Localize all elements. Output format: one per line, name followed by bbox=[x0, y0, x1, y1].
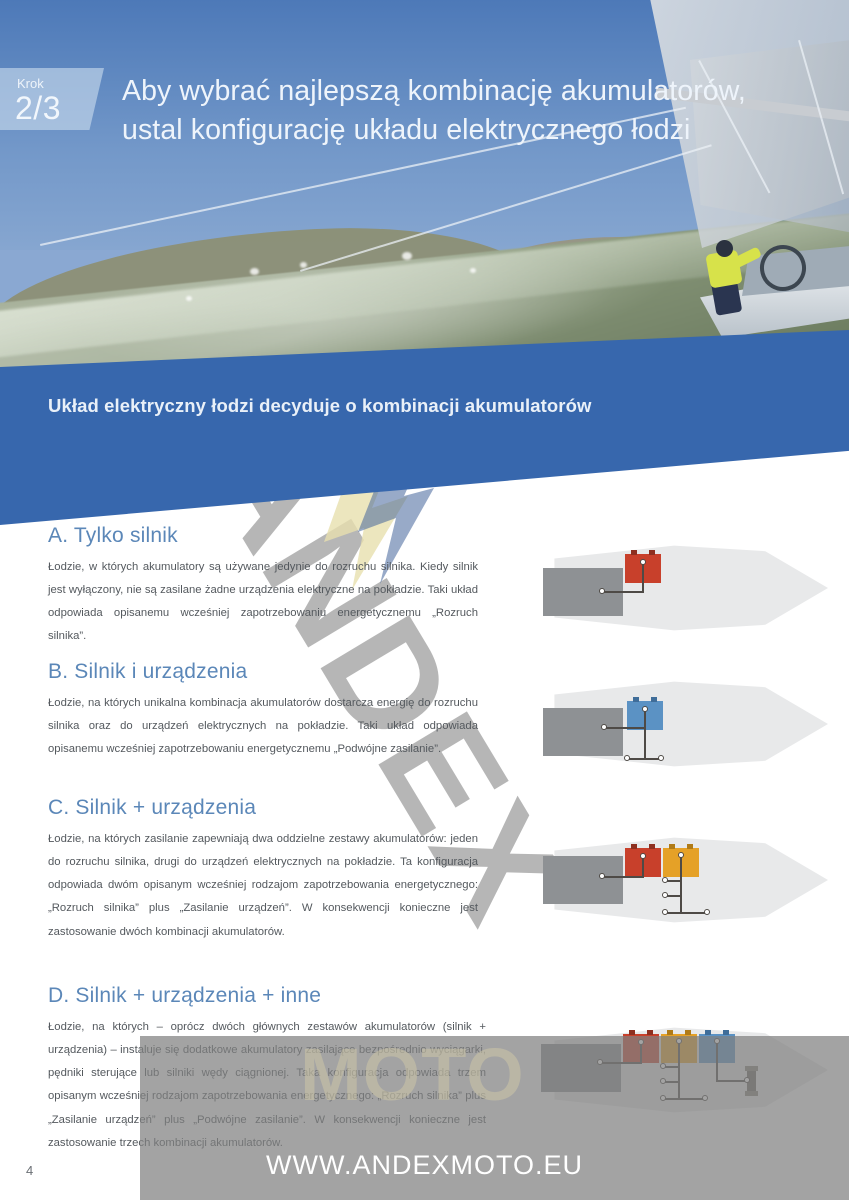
section-c-body: Łodzie, na których zasilanie zapewniają … bbox=[48, 828, 478, 944]
device-node bbox=[624, 755, 630, 761]
wire-to-engine bbox=[603, 727, 646, 729]
wire-battery-down bbox=[642, 856, 644, 878]
engine-block-icon bbox=[543, 708, 623, 756]
wire-battery-down bbox=[644, 708, 646, 760]
hero-photo bbox=[0, 0, 849, 380]
diagram-a bbox=[525, 536, 830, 646]
spray-droplet bbox=[250, 268, 259, 275]
section-b: B. Silnik i urządzenia Łodzie, na któryc… bbox=[48, 660, 478, 761]
banner-text: Układ elektryczny łodzi decyduje o kombi… bbox=[48, 392, 591, 419]
section-b-body: Łodzie, na których unikalna kombinacja a… bbox=[48, 692, 478, 761]
step-badge-label: Krok bbox=[17, 76, 44, 91]
section-a-heading: A. Tylko silnik bbox=[48, 524, 478, 548]
section-a-body: Łodzie, w których akumulatory są używane… bbox=[48, 556, 478, 649]
section-c: C. Silnik + urządzenia Łodzie, na któryc… bbox=[48, 796, 478, 944]
device-node bbox=[704, 909, 710, 915]
wire-device-bus bbox=[665, 912, 707, 914]
device-node bbox=[658, 755, 664, 761]
wire-battery-down bbox=[642, 562, 644, 592]
spray-droplet bbox=[470, 268, 476, 273]
page-title: Aby wybrać najlepszą kombinację akumulat… bbox=[122, 72, 762, 150]
spray-droplet bbox=[186, 296, 192, 301]
engine-block-icon bbox=[543, 856, 623, 904]
device-node bbox=[662, 877, 668, 883]
device-node bbox=[662, 892, 668, 898]
sailor-head bbox=[716, 240, 733, 257]
wire-devices-trunk bbox=[680, 854, 682, 914]
diagram-c bbox=[525, 828, 830, 938]
footer-url[interactable]: WWW.ANDEXMOTO.EU bbox=[0, 1150, 849, 1181]
terminal-node bbox=[599, 588, 605, 594]
diagram-b bbox=[525, 672, 830, 782]
battery-terminal-node bbox=[678, 852, 684, 858]
page-number: 4 bbox=[26, 1163, 33, 1178]
terminal-node bbox=[599, 873, 605, 879]
wire-to-engine bbox=[601, 591, 644, 593]
battery-terminal-node bbox=[640, 853, 646, 859]
section-d-heading: D. Silnik + urządzenia + inne bbox=[48, 984, 486, 1008]
spray-droplet bbox=[402, 252, 412, 260]
terminal-node bbox=[601, 724, 607, 730]
section-a: A. Tylko silnik Łodzie, w których akumul… bbox=[48, 524, 478, 649]
battery-terminal-node bbox=[640, 559, 646, 565]
section-c-heading: C. Silnik + urządzenia bbox=[48, 796, 478, 820]
wire-device-bus bbox=[626, 758, 661, 760]
battery-terminal-node bbox=[642, 706, 648, 712]
wire-to-engine bbox=[601, 876, 644, 878]
device-node bbox=[662, 909, 668, 915]
step-badge-value: 2/3 bbox=[15, 90, 61, 127]
section-b-heading: B. Silnik i urządzenia bbox=[48, 660, 478, 684]
watermark-moto: MOTO bbox=[300, 1032, 525, 1117]
